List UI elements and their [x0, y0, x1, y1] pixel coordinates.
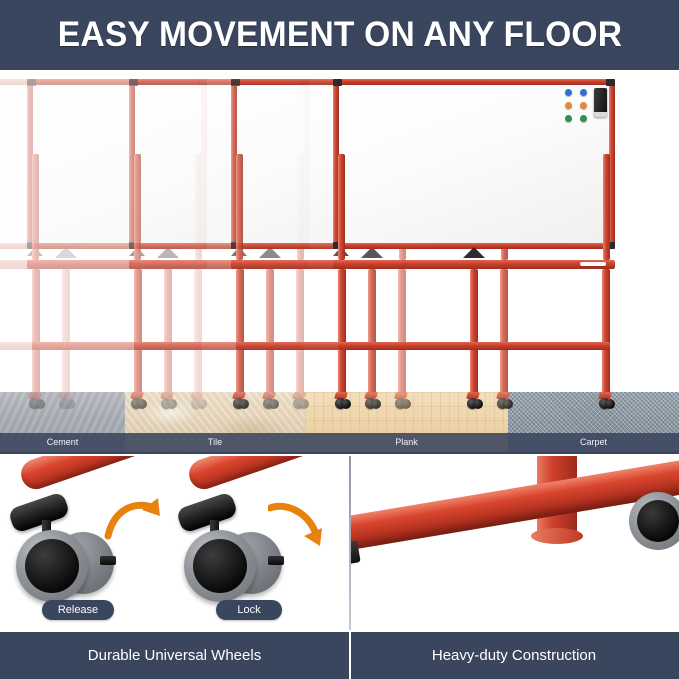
caster-wheel	[332, 392, 352, 408]
caster-wheel	[596, 392, 616, 408]
floor-label-plank: Plank	[305, 433, 508, 452]
corner-cap	[27, 79, 36, 86]
caster-wheel	[629, 492, 679, 550]
brake-lever-icon	[100, 556, 116, 565]
floor-label-cement: Cement	[0, 433, 125, 452]
bar-end-cap	[176, 491, 239, 534]
magnet-blue-icon	[580, 89, 587, 96]
magnet-green-icon	[580, 115, 587, 122]
marker-icon	[580, 262, 606, 266]
board-frame	[333, 79, 615, 249]
magnet-blue-icon	[565, 89, 572, 96]
frame-top	[333, 79, 615, 85]
frame-bar	[185, 456, 349, 493]
stand-rail	[338, 342, 610, 350]
product-feature-image: EASY MOVEMENT ON ANY FLOOR Cement Tile P…	[0, 0, 679, 679]
eraser-icon	[594, 88, 607, 117]
magnet-grid	[565, 89, 587, 122]
base-beam	[351, 456, 679, 552]
caption-construction: Heavy-duty Construction	[349, 632, 679, 679]
board-post-left	[338, 154, 345, 260]
corner-cap	[129, 79, 138, 86]
stand-leg-left	[236, 269, 244, 397]
caster-lock-illustration	[172, 460, 347, 610]
rotation-arrow-down-icon	[268, 500, 326, 552]
stand-leg-left	[32, 269, 40, 397]
bar-end-cap	[8, 491, 71, 534]
panel-durable-universal-wheels: Release Lock	[0, 456, 349, 630]
brake-lever-icon	[268, 556, 284, 565]
badge-lock: Lock	[216, 600, 282, 620]
whiteboard-main	[324, 70, 624, 410]
caption-construction-text: Heavy-duty Construction	[432, 647, 596, 664]
top-divider	[0, 452, 679, 454]
pivot-bracket	[463, 247, 485, 258]
panel-heavy-duty-construction	[351, 456, 679, 630]
corner-cap	[606, 79, 615, 86]
page-title: EASY MOVEMENT ON ANY FLOOR	[57, 15, 621, 55]
board-post-left	[236, 154, 243, 260]
header-banner: EASY MOVEMENT ON ANY FLOOR	[0, 0, 679, 70]
caption-wheels: Durable Universal Wheels	[0, 632, 349, 679]
magnet-orange-icon	[580, 102, 587, 109]
caster-wheel-front	[16, 530, 88, 602]
marker-tray	[333, 260, 615, 269]
corner-cap	[231, 79, 240, 86]
caster-wheel-front	[184, 530, 256, 602]
stand-leg-left	[134, 269, 142, 397]
frame-bar	[17, 456, 186, 493]
floor-label-carpet: Carpet	[508, 433, 679, 452]
caster-wheel	[230, 392, 250, 408]
caster-wheel	[26, 392, 46, 408]
stand-leg-right	[602, 269, 610, 397]
board-post-right	[603, 154, 610, 260]
caster-release-illustration	[4, 460, 179, 610]
magnet-green-icon	[565, 115, 572, 122]
stand-leg-center	[470, 269, 478, 397]
caption-separator	[349, 632, 351, 679]
badge-release: Release	[42, 600, 114, 620]
caption-wheels-text: Durable Universal Wheels	[88, 647, 261, 664]
floor-label-bar: Cement Tile Plank Carpet	[0, 433, 679, 452]
floor-label-tile: Tile	[125, 433, 305, 452]
corner-cap	[333, 79, 342, 86]
magnet-orange-icon	[565, 102, 572, 109]
hero-movement-scene: Cement Tile Plank Carpet	[0, 70, 679, 452]
stand-leg-left	[338, 269, 346, 397]
bottom-feature-row: Release Lock Durable Universal Wheels He…	[0, 452, 679, 679]
caster-wheel	[464, 392, 484, 408]
rotation-arrow-up-icon	[104, 496, 162, 548]
caster-wheel	[128, 392, 148, 408]
board-post-left	[134, 154, 141, 260]
board-post-left	[32, 154, 39, 260]
